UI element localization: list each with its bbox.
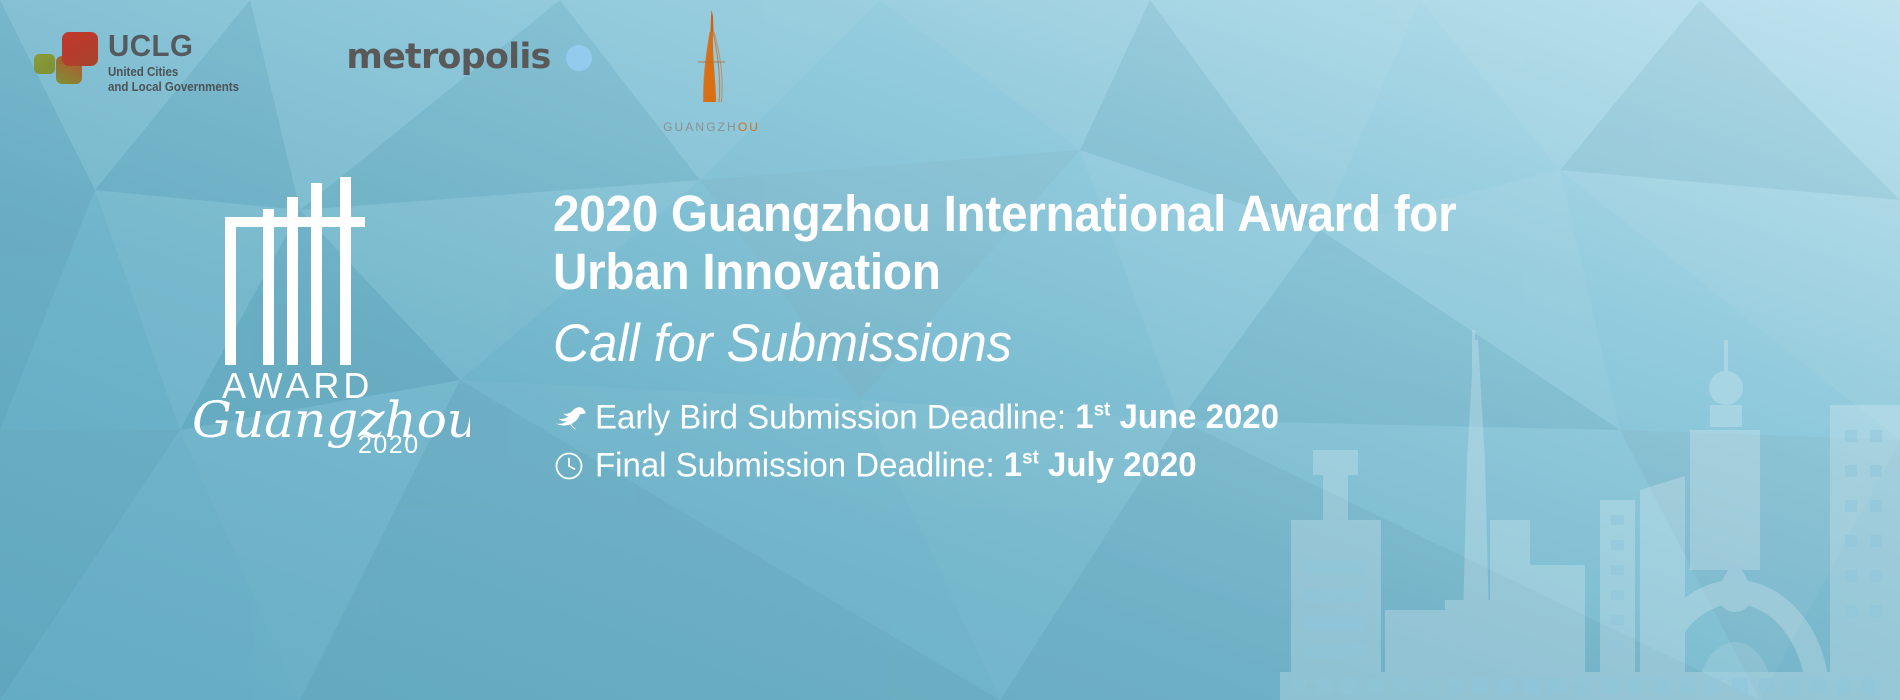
clock-icon [553,450,595,482]
award-call-for-submissions-banner: UCLG United Cities and Local Governments… [0,0,1900,700]
award-year: 2020 [358,431,420,455]
metropolis-wordmark: metropolis [346,40,550,75]
award-guangzhou-logo: AWARD Guangzhou 2020 [170,165,470,455]
partner-logo-row: UCLG United Cities and Local Governments… [34,28,772,134]
early-bird-deadline-text: Early Bird Submission Deadline: 1st June… [595,400,1279,436]
uclg-mark-icon [34,32,98,90]
bird-icon [553,404,595,432]
canton-tower-icon [677,6,747,116]
page-title: 2020 Guangzhou International Award for U… [553,185,1600,301]
final-deadline-text: Final Submission Deadline: 1st July 2020 [595,448,1197,484]
early-bird-deadline-row: Early Bird Submission Deadline: 1st June… [553,400,1673,436]
uclg-tagline-line1: United Cities [108,65,239,80]
guangzhou-script-word: Guangzhou [192,391,470,449]
guangzhou-city-label: GUANGZHOU [652,120,772,134]
final-deadline-row: Final Submission Deadline: 1st July 2020 [553,448,1673,484]
uclg-acronym: UCLG [108,30,243,61]
subtitle: Call for Submissions [553,315,1617,373]
main-copy: 2020 Guangzhou International Award for U… [553,185,1673,484]
metropolis-dot-icon [566,45,592,71]
guangzhou-city-logo: GUANGZHOU [652,6,772,134]
uclg-logo: UCLG United Cities and Local Governments [34,28,250,96]
uclg-tagline-line2: and Local Governments [108,80,239,95]
metropolis-logo: metropolis [346,40,591,75]
